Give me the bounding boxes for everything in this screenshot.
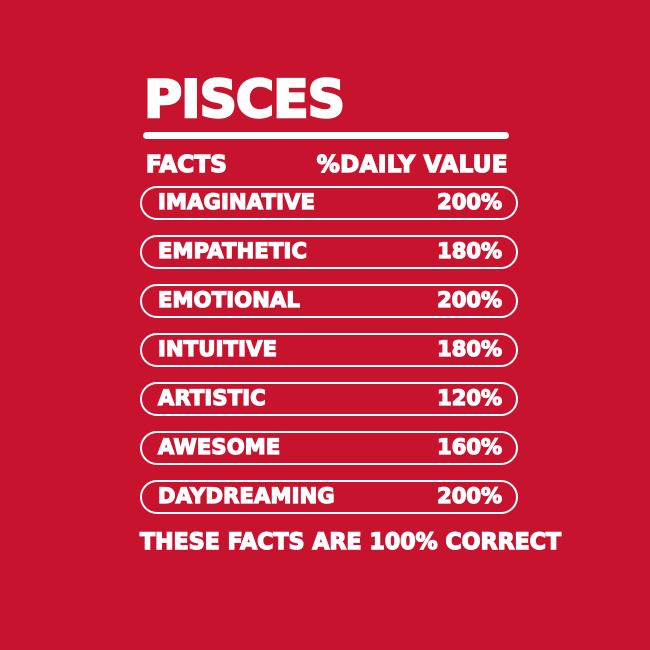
fact-name: INTUITIVE	[158, 339, 277, 360]
fact-value: 120%	[437, 388, 502, 409]
facts-list: IMAGINATIVE200%EMPATHETIC180%EMOTIONAL20…	[140, 186, 518, 514]
fact-name: EMPATHETIC	[158, 241, 307, 262]
column-header-row: FACTS %DAILY VALUE	[146, 152, 508, 178]
fact-name: EMOTIONAL	[158, 290, 300, 311]
fact-row: AWESOME160%	[140, 431, 518, 465]
fact-row: INTUITIVE180%	[140, 333, 518, 367]
fact-row: EMPATHETIC180%	[140, 235, 518, 269]
column-header-daily-value: %DAILY VALUE	[317, 152, 508, 178]
nutrition-label-block: PISCES FACTS %DAILY VALUE IMAGINATIVE200…	[140, 72, 518, 555]
title-divider	[143, 132, 509, 139]
fact-row: IMAGINATIVE200%	[140, 186, 518, 220]
fact-row: EMOTIONAL200%	[140, 284, 518, 318]
footer-disclaimer: THESE FACTS ARE 100% CORRECT	[140, 530, 518, 555]
fact-value: 180%	[437, 241, 502, 262]
fact-name: DAYDREAMING	[158, 486, 335, 507]
column-header-facts: FACTS	[146, 152, 227, 178]
fact-name: IMAGINATIVE	[158, 192, 315, 213]
fact-name: ARTISTIC	[158, 388, 266, 409]
fact-value: 200%	[437, 486, 502, 507]
fact-value: 200%	[437, 290, 502, 311]
fact-row: ARTISTIC120%	[140, 382, 518, 416]
fact-value: 160%	[437, 437, 502, 458]
fact-value: 200%	[437, 192, 502, 213]
fact-name: AWESOME	[158, 437, 280, 458]
poster-canvas: PISCES FACTS %DAILY VALUE IMAGINATIVE200…	[0, 0, 650, 650]
page-title: PISCES	[144, 72, 518, 128]
fact-row: DAYDREAMING200%	[140, 480, 518, 514]
fact-value: 180%	[437, 339, 502, 360]
